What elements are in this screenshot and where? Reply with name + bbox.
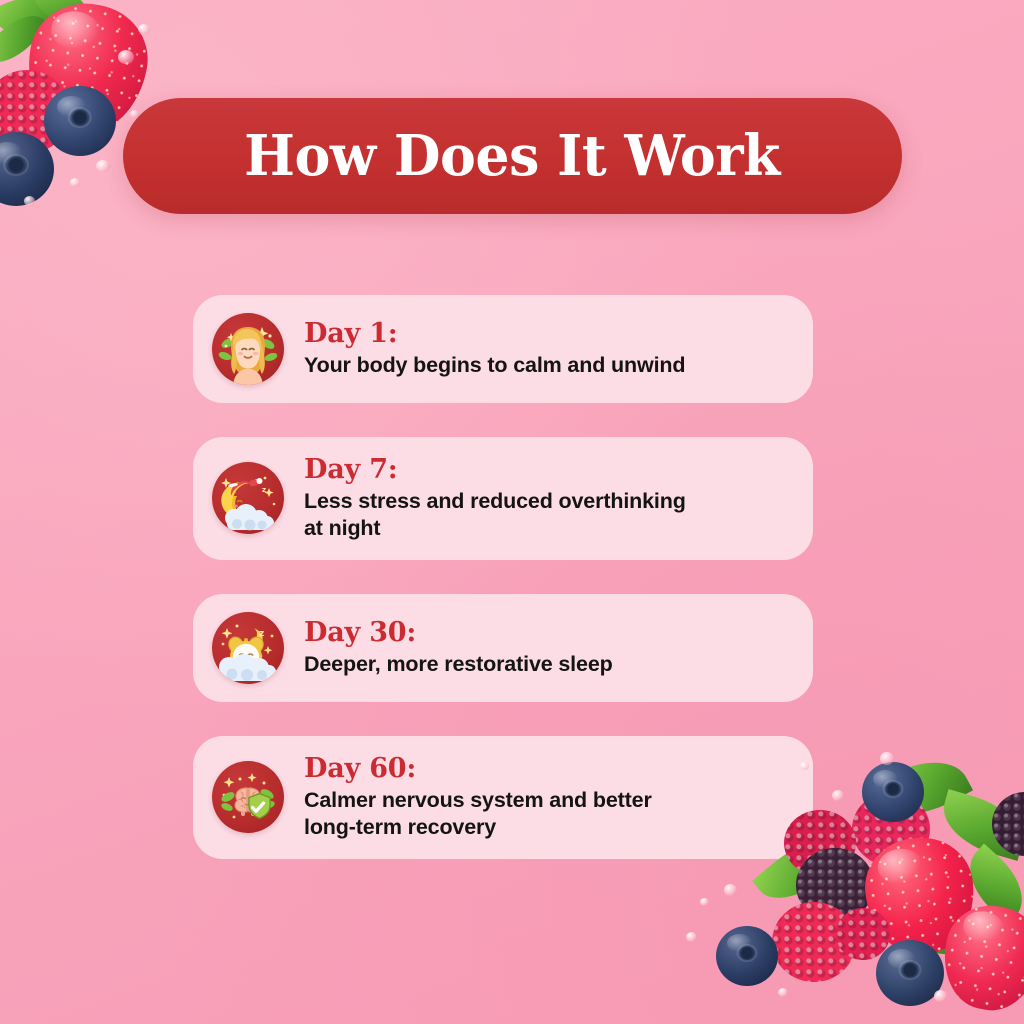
strawberry-icon (860, 833, 980, 960)
day-label: Day 1: (304, 319, 789, 349)
strawberry-leaf-icon (27, 0, 96, 30)
header-banner: How Does It Work (123, 98, 902, 214)
calm-woman-icon (212, 313, 284, 385)
raspberry-icon (836, 908, 890, 960)
sleeping-alarm-clock-icon: z z (212, 612, 284, 684)
day-description: Less stress and reduced overthinking at … (304, 488, 789, 542)
blueberry-icon (862, 762, 924, 822)
mint-leaf-icon (884, 904, 966, 956)
blueberry-icon (876, 940, 944, 1006)
water-droplet-icon (832, 790, 844, 801)
card-text-block: Day 1: Your body begins to calm and unwi… (304, 319, 789, 379)
water-droplet-icon (880, 752, 894, 765)
water-droplet-icon (934, 990, 947, 1002)
mint-leaf-icon (955, 844, 1024, 925)
water-droplet-icon (686, 932, 697, 942)
svg-text:z: z (262, 486, 266, 494)
blueberry-icon (44, 86, 116, 156)
timeline-card-day-60[interactable]: Day 60: Calmer nervous system and better… (193, 736, 813, 859)
blueberry-icon (716, 926, 778, 986)
card-text-block: Day 60: Calmer nervous system and better… (304, 754, 789, 841)
day-description: Deeper, more restorative sleep (304, 651, 789, 678)
raspberry-icon (772, 902, 856, 982)
blueberry-icon (0, 132, 54, 206)
day-label: Day 60: (304, 754, 789, 784)
blackberry-icon (992, 792, 1024, 856)
blackberry-icon (796, 848, 874, 922)
strawberry-leaf-icon (0, 0, 72, 50)
water-droplet-icon (118, 50, 134, 64)
page-title: How Does It Work (245, 123, 781, 189)
mint-leaf-icon (871, 744, 973, 831)
timeline-card-day-7[interactable]: z z (193, 437, 813, 560)
timeline-card-day-30[interactable]: z z (193, 594, 813, 702)
poster-canvas: How Does It Work (0, 0, 1024, 1024)
raspberry-icon (852, 792, 930, 866)
day-label: Day 7: (304, 455, 789, 485)
timeline-card-day-1[interactable]: Day 1: Your body begins to calm and unwi… (193, 295, 813, 403)
water-droplet-icon (700, 898, 709, 906)
water-droplet-icon (70, 178, 80, 187)
water-droplet-icon (724, 884, 737, 896)
water-droplet-icon (138, 24, 150, 34)
strawberry-icon (934, 897, 1024, 1019)
strawberry-leaf-icon (0, 3, 49, 76)
card-text-block: Day 30: Deeper, more restorative sleep (304, 618, 789, 678)
timeline-list: Day 1: Your body begins to calm and unwi… (193, 295, 813, 859)
day-description: Calmer nervous system and better long-te… (304, 787, 789, 841)
raspberry-icon (0, 70, 70, 154)
brain-shield-icon (212, 761, 284, 833)
water-droplet-icon (24, 196, 35, 206)
card-text-block: Day 7: Less stress and reduced overthink… (304, 455, 789, 542)
mint-leaf-icon (935, 789, 1024, 861)
sleeping-moon-icon: z z (212, 462, 284, 534)
water-droplet-icon (96, 160, 110, 172)
day-label: Day 30: (304, 618, 789, 648)
water-droplet-icon (778, 988, 788, 997)
day-description: Your body begins to calm and unwind (304, 352, 789, 379)
